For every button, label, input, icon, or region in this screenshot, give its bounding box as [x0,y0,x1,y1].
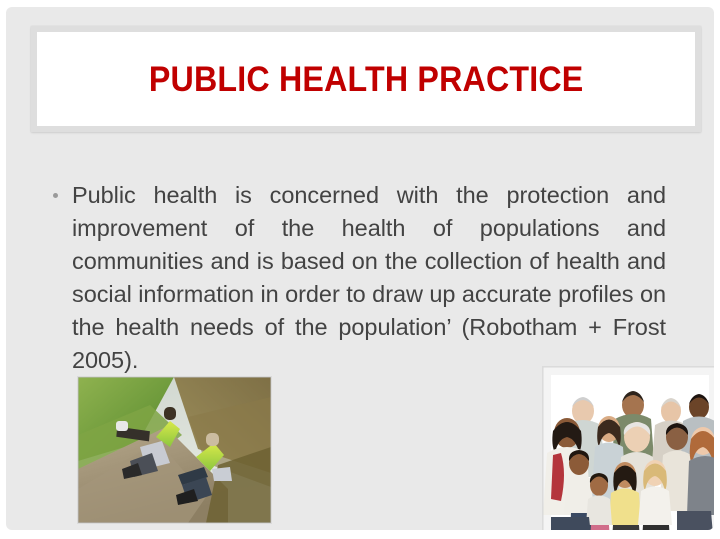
family-group-photo-graphic [543,367,714,530]
list-item: Public health is concerned with the prot… [50,179,666,377]
runners-photo [78,377,271,523]
bullet-dot-icon [53,193,58,198]
title-box: PUBLIC HEALTH PRACTICE [37,32,695,126]
page-title: PUBLIC HEALTH PRACTICE [149,62,584,97]
body-paragraph: Public health is concerned with the prot… [72,179,666,377]
family-group-photo [543,367,714,530]
body-content: Public health is concerned with the prot… [50,179,666,377]
runners-photo-graphic [78,377,271,523]
slide-root: PUBLIC HEALTH PRACTICE Public health is … [0,0,720,539]
slide-canvas: PUBLIC HEALTH PRACTICE Public health is … [6,7,714,530]
